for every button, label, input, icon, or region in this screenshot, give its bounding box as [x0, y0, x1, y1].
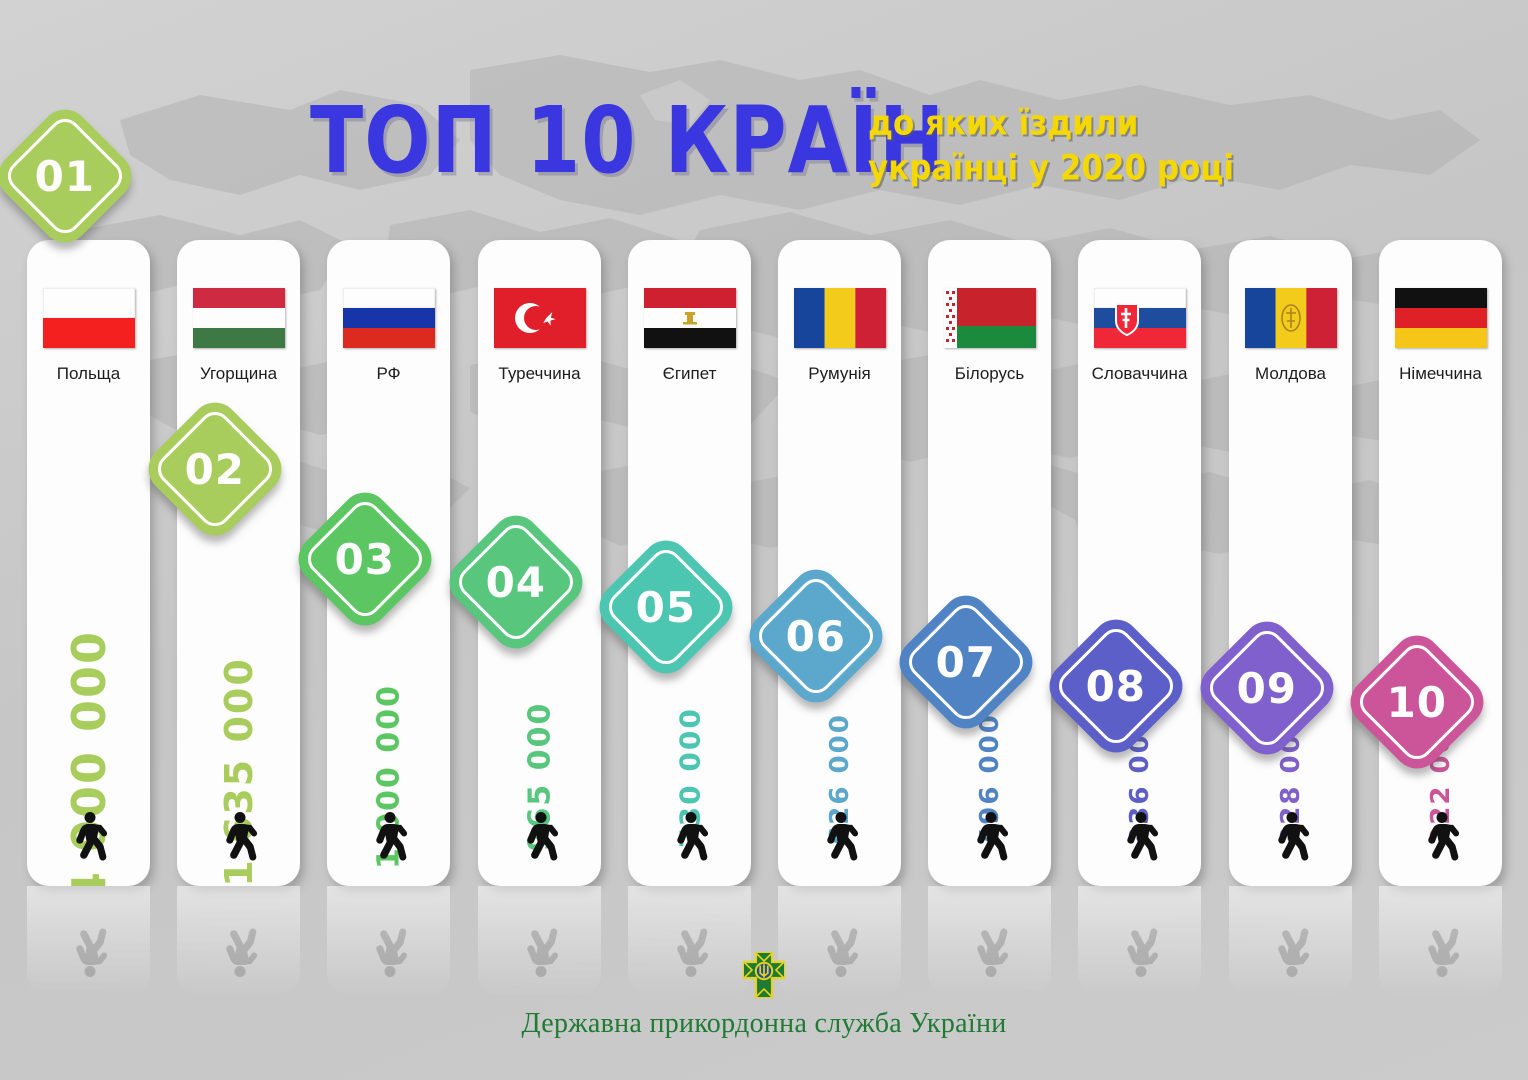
country-name: Польща [27, 364, 150, 384]
country-name: Туреччина [478, 364, 601, 384]
russia-flag [343, 288, 435, 348]
column-card: Румунія626 000 [778, 240, 901, 886]
country-column: Німеччина222 000 10 [1379, 240, 1502, 886]
pedestrian-walking-icon [369, 811, 409, 868]
pedestrian-walking-icon [1421, 811, 1461, 868]
rank-number: 06 [786, 611, 846, 660]
country-column: Молдова328 000 09 [1229, 240, 1352, 886]
rank-number: 09 [1237, 663, 1297, 712]
rank-number: 04 [486, 557, 546, 606]
pedestrian-walking-icon [69, 811, 109, 868]
footer-text: Державна прикордонна служба України [0, 1008, 1528, 1040]
column-card: Білорусь496 000 [928, 240, 1051, 886]
moldova-flag [1245, 288, 1337, 348]
country-columns: Польща4 000 000 01 Угорщина1 635 000 02 [0, 0, 1528, 1080]
rank-number: 01 [35, 151, 95, 200]
rank-number: 05 [636, 582, 696, 631]
footer: Державна прикордонна служба України [0, 950, 1528, 1040]
rank-number: 08 [1086, 661, 1146, 710]
pedestrian-walking-icon [1120, 811, 1160, 868]
egypt-flag [644, 288, 736, 348]
country-column: Словаччина336 000 08 [1078, 240, 1201, 886]
country-column: Білорусь496 000 07 [928, 240, 1051, 886]
pedestrian-walking-icon [970, 811, 1010, 868]
pedestrian-walking-icon [520, 811, 560, 868]
country-name: Молдова [1229, 364, 1352, 384]
rank-badge: 01 [0, 100, 141, 253]
pedestrian-walking-icon [670, 811, 710, 868]
poland-flag [43, 288, 135, 348]
country-name: Угорщина [177, 364, 300, 384]
country-column: РФ1 000 000 03 [327, 240, 450, 886]
column-card: Молдова328 000 [1229, 240, 1352, 886]
rank-number: 07 [936, 637, 996, 686]
country-column: Польща4 000 000 01 [27, 240, 150, 886]
romania-flag [794, 288, 886, 348]
country-name: Єгипет [628, 364, 751, 384]
belarus-flag [944, 288, 1036, 348]
column-card: Угорщина1 635 000 [177, 240, 300, 886]
germany-flag [1395, 288, 1487, 348]
slovakia-flag [1094, 288, 1186, 348]
pedestrian-walking-icon [820, 811, 860, 868]
pedestrian-walking-icon [1271, 811, 1311, 868]
column-card: Польща4 000 000 [27, 240, 150, 886]
country-name: Білорусь [928, 364, 1051, 384]
column-card: Словаччина336 000 [1078, 240, 1201, 886]
rank-number: 10 [1387, 677, 1447, 726]
hungary-flag [193, 288, 285, 348]
country-name: Німеччина [1379, 364, 1502, 384]
country-name: Словаччина [1078, 364, 1201, 384]
country-name: РФ [327, 364, 450, 384]
country-column: Туреччина965 000 04 [478, 240, 601, 886]
rank-number: 02 [185, 444, 245, 493]
country-column: Румунія626 000 06 [778, 240, 901, 886]
country-name: Румунія [778, 364, 901, 384]
pedestrian-walking-icon [219, 811, 259, 868]
ukrainian-border-guard-emblem [741, 950, 787, 1000]
country-column: Угорщина1 635 000 02 [177, 240, 300, 886]
rank-number: 03 [335, 534, 395, 583]
column-card: Німеччина222 000 [1379, 240, 1502, 886]
country-column: Єгипет730 000 05 [628, 240, 751, 886]
turkey-flag [494, 288, 586, 348]
